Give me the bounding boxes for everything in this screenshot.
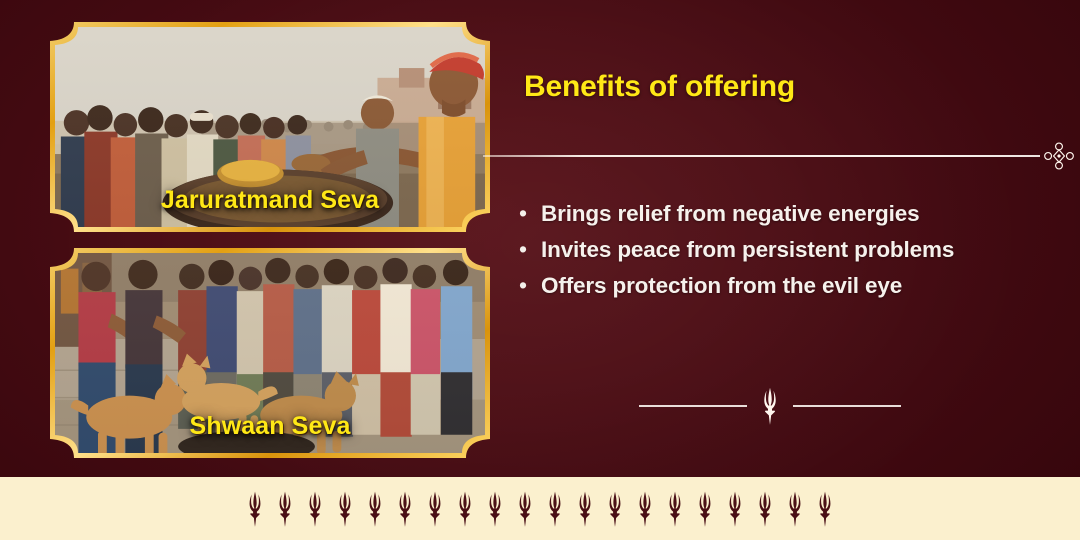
bullet-marker-icon: • (519, 200, 541, 227)
list-item-label: Invites peace from persistent problems (541, 236, 954, 263)
seva-card[interactable]: Jaruratmand Seva (50, 22, 490, 232)
trishul-icon (631, 490, 659, 528)
divider-line-right (793, 405, 901, 406)
trishul-icon (781, 490, 809, 528)
trishul-icon (571, 490, 599, 528)
list-item-label: Offers protection from the evil eye (541, 272, 902, 299)
page-title: Benefits of offering (524, 70, 795, 104)
trishul-icon (541, 490, 569, 528)
trishul-icon (331, 490, 359, 528)
seva-card[interactable]: Shwaan Seva (50, 248, 490, 458)
section-divider (625, 386, 915, 426)
benefits-list: • Brings relief from negative energies •… (519, 200, 1079, 308)
knot-ornament-icon (1038, 141, 1080, 171)
trishul-icon (721, 490, 749, 528)
list-item: • Brings relief from negative energies (519, 200, 1079, 227)
trishul-icon (481, 490, 509, 528)
bullet-marker-icon: • (519, 272, 541, 299)
slide-canvas: Jaruratmand Seva Shwaan Seva Benefits of… (0, 0, 1080, 540)
trishul-icon (691, 490, 719, 528)
trishul-icon (361, 490, 389, 528)
trishul-icon (511, 490, 539, 528)
seva-card-caption: Jaruratmand Seva (55, 186, 485, 215)
seva-card-caption: Shwaan Seva (55, 412, 485, 441)
header-rule-line (483, 155, 1040, 157)
trishul-icon (301, 490, 329, 528)
trishul-icon (391, 490, 419, 528)
seva-card-list: Jaruratmand Seva Shwaan Seva (50, 22, 490, 474)
trishul-icon (751, 490, 779, 528)
trishul-icon (753, 386, 787, 426)
bullet-marker-icon: • (519, 236, 541, 263)
benefits-panel: Benefits of offering • Brings relief fro… (483, 0, 1080, 477)
list-item: • Invites peace from persistent problems (519, 236, 1079, 263)
trishul-icon (661, 490, 689, 528)
trishul-icon (601, 490, 629, 528)
list-item: • Offers protection from the evil eye (519, 272, 1079, 299)
trishul-icon (451, 490, 479, 528)
trishul-icon (421, 490, 449, 528)
trishul-icon (811, 490, 839, 528)
trishul-border-strip (0, 477, 1080, 540)
list-item-label: Brings relief from negative energies (541, 200, 919, 227)
divider-line-left (639, 405, 747, 406)
trishul-icon (241, 490, 269, 528)
seva-card-photo-frame: Shwaan Seva (55, 253, 485, 453)
header-rule (483, 141, 1080, 171)
seva-card-photo-frame: Jaruratmand Seva (55, 27, 485, 227)
trishul-icon (271, 490, 299, 528)
